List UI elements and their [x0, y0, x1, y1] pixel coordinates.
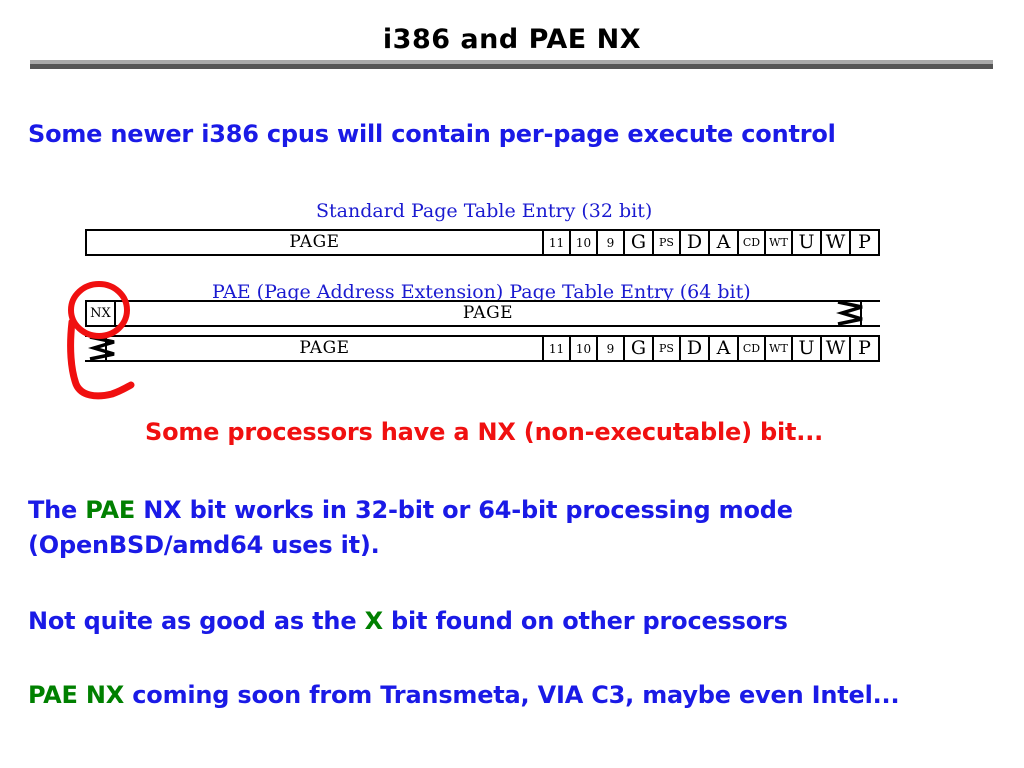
pae-pte-bit-u: U	[791, 337, 820, 360]
standard-pte-row: PAGE 11 10 9 G PS D A CD WT U W P	[85, 229, 880, 256]
pae-pte-bit-ps: PS	[652, 337, 679, 360]
standard-pte-bit-a: A	[708, 231, 737, 254]
pae-nx-line-1-post: NX bit works in 32-bit or 64-bit process…	[135, 496, 793, 524]
pae-pte-bit-11: 11	[542, 337, 569, 360]
pae-pte-page-field-high: PAGE	[114, 302, 860, 325]
pae-pte-bit-g: G	[623, 337, 652, 360]
pae-pte-bit-w: W	[820, 337, 849, 360]
pae-pte-low-break-spacer	[85, 337, 105, 360]
pae-nx-line-1-green: PAE	[85, 496, 135, 524]
not-quite-green: X	[365, 607, 383, 635]
standard-pte-bit-wt: WT	[764, 231, 791, 254]
pae-pte-high-break-spacer	[860, 302, 880, 325]
red-note-text: Some processors have a NX (non-executabl…	[145, 418, 823, 446]
standard-pte-bit-cd: CD	[737, 231, 764, 254]
title-divider-dark	[30, 64, 993, 69]
standard-pte-bit-ps: PS	[652, 231, 679, 254]
pae-pte-bit-p: P	[849, 337, 878, 360]
coming-soon-green: PAE NX	[28, 681, 124, 709]
pae-pte-low-row: PAGE 11 10 9 G PS D A CD WT U W P	[85, 335, 880, 362]
standard-pte-bit-9: 9	[596, 231, 623, 254]
intro-text: Some newer i386 cpus will contain per-pa…	[28, 120, 836, 148]
pae-pte-bit-d: D	[679, 337, 708, 360]
pae-nx-line-1-pre: The	[28, 496, 85, 524]
standard-pte-bit-11: 11	[542, 231, 569, 254]
page-title: i386 and PAE NX	[0, 24, 1024, 55]
coming-soon-post: coming soon from Transmeta, VIA C3, mayb…	[124, 681, 899, 709]
pae-pte-bit-10: 10	[569, 337, 596, 360]
pae-pte-bit-cd: CD	[737, 337, 764, 360]
not-quite-post: bit found on other processors	[383, 607, 788, 635]
pae-pte-bit-a: A	[708, 337, 737, 360]
pae-pte-nx-bit: NX	[87, 302, 114, 325]
standard-pte-bit-w: W	[820, 231, 849, 254]
not-quite-line: Not quite as good as the X bit found on …	[28, 607, 788, 635]
standard-pte-bit-d: D	[679, 231, 708, 254]
pae-nx-line-1: The PAE NX bit works in 32-bit or 64-bit…	[28, 496, 793, 524]
standard-pte-page-field: PAGE	[87, 231, 542, 254]
pae-nx-line-2: (OpenBSD/amd64 uses it).	[28, 531, 380, 559]
pae-pte-bit-9: 9	[596, 337, 623, 360]
standard-pte-caption: Standard Page Table Entry (32 bit)	[316, 200, 652, 222]
coming-soon-line: PAE NX coming soon from Transmeta, VIA C…	[28, 681, 899, 709]
standard-pte-bit-p: P	[849, 231, 878, 254]
pae-pte-high-row: NX PAGE	[85, 300, 880, 327]
not-quite-pre: Not quite as good as the	[28, 607, 365, 635]
title-divider	[30, 60, 993, 69]
standard-pte-bit-u: U	[791, 231, 820, 254]
standard-pte-bit-g: G	[623, 231, 652, 254]
standard-pte-bit-10: 10	[569, 231, 596, 254]
pae-pte-bit-wt: WT	[764, 337, 791, 360]
pae-pte-page-field-low: PAGE	[105, 337, 542, 360]
